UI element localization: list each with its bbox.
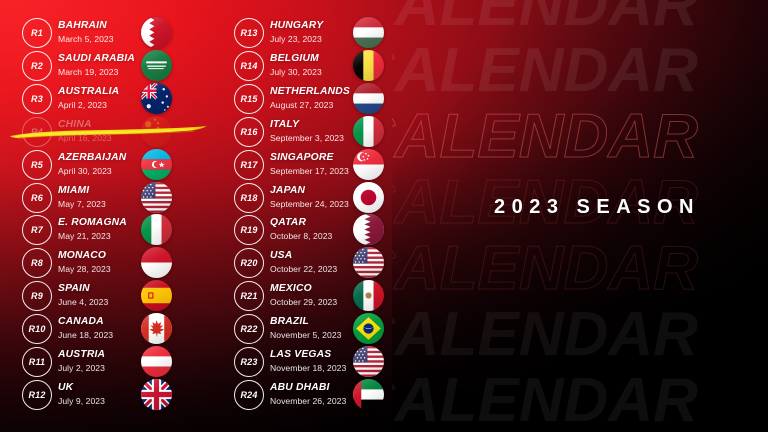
race-country-name: AUSTRALIA	[58, 82, 150, 101]
race-row[interactable]: R13HUNGARYJuly 23, 2023	[212, 16, 422, 49]
race-row[interactable]: R2SAUDI ARABIAMarch 19, 2023	[0, 49, 210, 82]
flag-gloss	[353, 17, 384, 48]
race-info: CHINAApril 16, 2023	[58, 115, 150, 148]
race-row[interactable]: R10CANADAJune 18, 2023	[0, 312, 210, 345]
flag-gloss	[353, 149, 384, 180]
race-info: SINGAPORESeptember 17, 2023	[270, 148, 362, 181]
race-date: October 22, 2023	[270, 264, 362, 275]
race-info: BAHRAINMarch 5, 2023	[58, 16, 150, 49]
round-badge: R18	[234, 183, 264, 213]
race-info: JAPANSeptember 24, 2023	[270, 181, 362, 214]
race-country-name: USA	[270, 246, 362, 265]
country-flag-icon	[141, 149, 172, 180]
country-flag-icon	[141, 116, 172, 147]
race-date: July 2, 2023	[58, 363, 150, 374]
race-info: LAS VEGASNovember 18, 2023	[270, 345, 362, 378]
race-info: E. ROMAGNAMay 21, 2023	[58, 213, 150, 246]
flag-gloss	[353, 182, 384, 213]
race-date: October 8, 2023	[270, 231, 362, 242]
flag-gloss	[353, 346, 384, 377]
race-row[interactable]: R9SPAINJune 4, 2023	[0, 279, 210, 312]
race-date: June 4, 2023	[58, 297, 150, 308]
race-info: AZERBAIJANApril 30, 2023	[58, 148, 150, 181]
race-row[interactable]: R5AZERBAIJANApril 30, 2023	[0, 148, 210, 181]
race-date: March 5, 2023	[58, 34, 150, 45]
country-flag-icon	[141, 17, 172, 48]
race-date: August 27, 2023	[270, 100, 362, 111]
calendar-poster: CALENDARCALENDARCALENDARCALENDARCALENDAR…	[0, 0, 768, 432]
country-flag-icon	[353, 214, 384, 245]
flag-gloss	[141, 149, 172, 180]
race-date: March 19, 2023	[58, 67, 150, 78]
race-row[interactable]: R18JAPANSeptember 24, 2023	[212, 181, 422, 214]
race-info: HUNGARYJuly 23, 2023	[270, 16, 362, 49]
race-info: SPAINJune 4, 2023	[58, 279, 150, 312]
race-info: BRAZILNovember 5, 2023	[270, 312, 362, 345]
race-country-name: AZERBAIJAN	[58, 148, 150, 167]
country-flag-icon	[353, 149, 384, 180]
race-country-name: BRAZIL	[270, 312, 362, 331]
race-country-name: QATAR	[270, 213, 362, 232]
race-date: May 21, 2023	[58, 231, 150, 242]
flag-gloss	[141, 379, 172, 410]
race-info: ABU DHABINovember 26, 2023	[270, 378, 362, 411]
race-row[interactable]: R24ABU DHABINovember 26, 2023	[212, 378, 422, 411]
race-info: UKJuly 9, 2023	[58, 378, 150, 411]
race-info: USAOctober 22, 2023	[270, 246, 362, 279]
race-country-name: MIAMI	[58, 181, 150, 200]
flag-gloss	[141, 83, 172, 114]
race-row[interactable]: R12UKJuly 9, 2023	[0, 378, 210, 411]
round-badge: R10	[22, 314, 52, 344]
country-flag-icon	[353, 50, 384, 81]
round-badge: R14	[234, 51, 264, 81]
round-badge: R8	[22, 248, 52, 278]
round-badge: R16	[234, 117, 264, 147]
race-info: QATAROctober 8, 2023	[270, 213, 362, 246]
country-flag-icon	[141, 214, 172, 245]
flag-gloss	[141, 346, 172, 377]
flag-gloss	[141, 116, 172, 147]
race-info: CANADAJune 18, 2023	[58, 312, 150, 345]
round-badge: R5	[22, 150, 52, 180]
race-info: MONACOMay 28, 2023	[58, 246, 150, 279]
country-flag-icon	[353, 280, 384, 311]
flag-gloss	[353, 83, 384, 114]
race-info: BELGIUMJuly 30, 2023	[270, 49, 362, 82]
race-row[interactable]: R7E. ROMAGNAMay 21, 2023	[0, 213, 210, 246]
race-info: ITALYSeptember 3, 2023	[270, 115, 362, 148]
country-flag-icon	[141, 247, 172, 278]
race-date: November 18, 2023	[270, 363, 362, 374]
race-date: September 24, 2023	[270, 199, 362, 210]
country-flag-icon	[141, 280, 172, 311]
flag-gloss	[353, 50, 384, 81]
round-badge: R1	[22, 18, 52, 48]
country-flag-icon	[353, 379, 384, 410]
race-row[interactable]: R1BAHRAINMarch 5, 2023	[0, 16, 210, 49]
race-country-name: CHINA	[58, 115, 150, 134]
race-row[interactable]: R4CHINAApril 16, 2023	[0, 115, 210, 148]
country-flag-icon	[353, 17, 384, 48]
race-row[interactable]: R14BELGIUMJuly 30, 2023	[212, 49, 422, 82]
round-badge: R13	[234, 18, 264, 48]
round-badge: R12	[22, 380, 52, 410]
race-country-name: ITALY	[270, 115, 362, 134]
country-flag-icon	[353, 346, 384, 377]
country-flag-icon	[353, 182, 384, 213]
race-row[interactable]: R19QATAROctober 8, 2023	[212, 213, 422, 246]
round-badge: R24	[234, 380, 264, 410]
country-flag-icon	[353, 116, 384, 147]
race-country-name: CANADA	[58, 312, 150, 331]
country-flag-icon	[141, 313, 172, 344]
flag-gloss	[141, 17, 172, 48]
round-badge: R19	[234, 215, 264, 245]
race-row[interactable]: R22BRAZILNovember 5, 2023	[212, 312, 422, 345]
race-country-name: HUNGARY	[270, 16, 362, 35]
race-row[interactable]: R8MONACOMay 28, 2023	[0, 246, 210, 279]
country-flag-icon	[141, 182, 172, 213]
race-date: November 26, 2023	[270, 396, 362, 407]
round-badge: R4	[22, 117, 52, 147]
race-info: NETHERLANDSAugust 27, 2023	[270, 82, 362, 115]
round-badge: R6	[22, 183, 52, 213]
page-title: 2023 SEASON	[452, 196, 742, 219]
race-date: July 23, 2023	[270, 34, 362, 45]
race-country-name: NETHERLANDS	[270, 82, 362, 101]
race-country-name: AUSTRIA	[58, 345, 150, 364]
round-badge: R20	[234, 248, 264, 278]
round-badge: R2	[22, 51, 52, 81]
flag-gloss	[141, 182, 172, 213]
race-country-name: MEXICO	[270, 279, 362, 298]
round-badge: R23	[234, 347, 264, 377]
flag-gloss	[353, 313, 384, 344]
race-date: October 29, 2023	[270, 297, 362, 308]
race-info: SAUDI ARABIAMarch 19, 2023	[58, 49, 150, 82]
race-country-name: SAUDI ARABIA	[58, 49, 150, 68]
race-info: MIAMIMay 7, 2023	[58, 181, 150, 214]
race-date: April 30, 2023	[58, 166, 150, 177]
race-country-name: LAS VEGAS	[270, 345, 362, 364]
flag-gloss	[353, 379, 384, 410]
race-row[interactable]: R15NETHERLANDSAugust 27, 2023	[212, 82, 422, 115]
race-date: September 17, 2023	[270, 166, 362, 177]
flag-gloss	[353, 280, 384, 311]
race-date: June 18, 2023	[58, 330, 150, 341]
flag-gloss	[141, 313, 172, 344]
race-date: July 9, 2023	[58, 396, 150, 407]
race-row[interactable]: R23LAS VEGASNovember 18, 2023	[212, 345, 422, 378]
round-badge: R17	[234, 150, 264, 180]
race-country-name: ABU DHABI	[270, 378, 362, 397]
race-date: April 2, 2023	[58, 100, 150, 111]
round-badge: R3	[22, 84, 52, 114]
country-flag-icon	[353, 247, 384, 278]
race-date: July 30, 2023	[270, 67, 362, 78]
race-row[interactable]: R16ITALYSeptember 3, 2023	[212, 115, 422, 148]
flag-gloss	[141, 50, 172, 81]
race-date: September 3, 2023	[270, 133, 362, 144]
flag-gloss	[353, 116, 384, 147]
race-country-name: BELGIUM	[270, 49, 362, 68]
race-country-name: E. ROMAGNA	[58, 213, 150, 232]
race-row[interactable]: R21MEXICOOctober 29, 2023	[212, 279, 422, 312]
race-country-name: JAPAN	[270, 181, 362, 200]
race-date: November 5, 2023	[270, 330, 362, 341]
flag-gloss	[141, 280, 172, 311]
round-badge: R7	[22, 215, 52, 245]
round-badge: R21	[234, 281, 264, 311]
race-date: April 16, 2023	[58, 133, 150, 144]
race-row[interactable]: R20USAOctober 22, 2023	[212, 246, 422, 279]
round-badge: R9	[22, 281, 52, 311]
race-info: MEXICOOctober 29, 2023	[270, 279, 362, 312]
race-info: AUSTRIAJuly 2, 2023	[58, 345, 150, 378]
race-country-name: SINGAPORE	[270, 148, 362, 167]
country-flag-icon	[141, 83, 172, 114]
race-row[interactable]: R17SINGAPORESeptember 17, 2023	[212, 148, 422, 181]
race-country-name: UK	[58, 378, 150, 397]
country-flag-icon	[353, 313, 384, 344]
race-row[interactable]: R6MIAMIMay 7, 2023	[0, 181, 210, 214]
race-date: May 28, 2023	[58, 264, 150, 275]
round-badge: R22	[234, 314, 264, 344]
race-country-name: BAHRAIN	[58, 16, 150, 35]
country-flag-icon	[141, 346, 172, 377]
race-row[interactable]: R11AUSTRIAJuly 2, 2023	[0, 345, 210, 378]
race-date: May 7, 2023	[58, 199, 150, 210]
round-badge: R15	[234, 84, 264, 114]
race-info: AUSTRALIAApril 2, 2023	[58, 82, 150, 115]
race-country-name: SPAIN	[58, 279, 150, 298]
race-country-name: MONACO	[58, 246, 150, 265]
race-row[interactable]: R3AUSTRALIAApril 2, 2023	[0, 82, 210, 115]
country-flag-icon	[141, 379, 172, 410]
country-flag-icon	[353, 83, 384, 114]
round-badge: R11	[22, 347, 52, 377]
country-flag-icon	[141, 50, 172, 81]
